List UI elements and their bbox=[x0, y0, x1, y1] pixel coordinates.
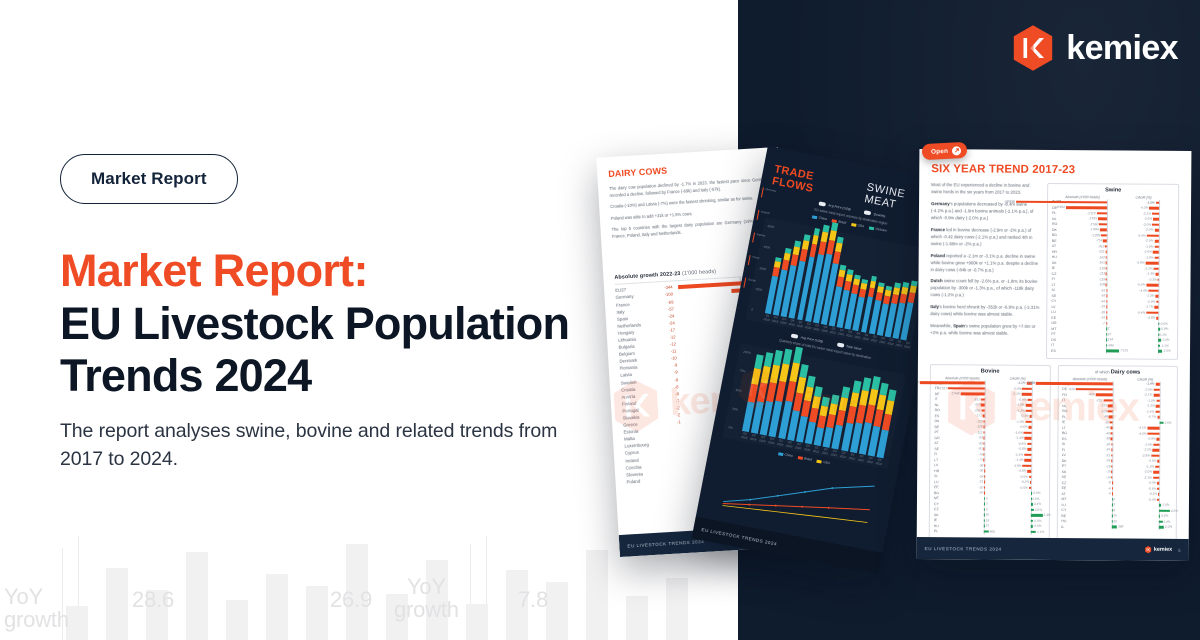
absolute-cell: -714 bbox=[1063, 239, 1124, 243]
value-label: -6 bbox=[1108, 486, 1111, 490]
value-label: -916 bbox=[1068, 387, 1074, 391]
value-label: -1.7% bbox=[1145, 305, 1153, 309]
absolute-cell: -307 bbox=[946, 403, 1001, 407]
axis-tick-label: Q4 2022 bbox=[875, 457, 883, 466]
bar bbox=[1157, 488, 1158, 491]
value-label: -84 bbox=[1104, 415, 1109, 419]
footer-brand-name: kemiex bbox=[1154, 547, 1172, 553]
country-code: PL bbox=[1062, 415, 1073, 419]
axis-tick-label: Q4 2019 bbox=[788, 318, 796, 327]
bar bbox=[1153, 477, 1159, 480]
country-code: DS bbox=[1051, 338, 1062, 342]
value-label: 37 bbox=[1108, 332, 1112, 336]
cagr-cell: -4.4% bbox=[1123, 289, 1173, 293]
value-label: -109 bbox=[1101, 409, 1107, 413]
value-label: -344 bbox=[659, 285, 674, 291]
absolute-cell: -53 bbox=[1063, 294, 1124, 298]
absolute-cell: -2'119 bbox=[1063, 212, 1124, 216]
absolute-cell: -118 bbox=[945, 425, 1000, 429]
value-label: -2'119 bbox=[1087, 211, 1096, 215]
absolute-cell: -296 bbox=[946, 409, 1001, 413]
country-code: IT bbox=[935, 397, 946, 401]
bar bbox=[1106, 251, 1107, 254]
country-code: LV bbox=[934, 463, 945, 467]
country-code: FI bbox=[1052, 277, 1063, 281]
absolute-cell: -352 bbox=[946, 398, 1001, 402]
absolute-cell: -8 bbox=[1073, 481, 1128, 485]
bar bbox=[1155, 466, 1159, 469]
trend-paragraph-3: Dutch swine count fell by -2.6% p.a. or … bbox=[930, 279, 1039, 301]
bar bbox=[1151, 455, 1159, 458]
value-label: -4.4% bbox=[1139, 289, 1147, 293]
open-badge[interactable]: Open bbox=[922, 142, 968, 160]
absolute-cell: -81 bbox=[945, 447, 1000, 451]
value-label: -2.1% bbox=[1012, 392, 1020, 396]
country-code: ES bbox=[1051, 349, 1062, 353]
axis-tick-label: Q3 2019 bbox=[780, 316, 788, 325]
bar bbox=[1158, 521, 1162, 524]
bar bbox=[1111, 460, 1112, 463]
absolute-cell: 8 bbox=[1072, 509, 1127, 513]
value-label: -1.9% bbox=[1144, 443, 1152, 447]
value-label: -71 bbox=[978, 458, 983, 462]
cagr-cell: -0.9% bbox=[1123, 300, 1173, 304]
value-label: -8 bbox=[664, 377, 679, 383]
value-label: -161 bbox=[1099, 261, 1105, 265]
value-label: -24 bbox=[661, 320, 676, 326]
axis-tick-label: Q4 2020 bbox=[821, 324, 829, 333]
absolute-cell: 21 bbox=[945, 524, 1000, 528]
value-label: -0.8% bbox=[1018, 469, 1026, 473]
value-label: -9 bbox=[664, 363, 679, 369]
trend-paragraph-4: Italy's bovine herd shrunk by -352k or -… bbox=[930, 304, 1039, 319]
value-label: -2.2% bbox=[1143, 448, 1151, 452]
value-label: -2.0% bbox=[1144, 470, 1152, 474]
bar bbox=[1027, 470, 1031, 473]
absolute-cell: -221 bbox=[1063, 250, 1124, 254]
value-label: -45 bbox=[1105, 426, 1110, 430]
bar bbox=[1105, 245, 1107, 248]
country-code: RO bbox=[1052, 222, 1063, 226]
cagr-cell: -1.3% bbox=[1000, 420, 1045, 424]
absolute-cell: 16 bbox=[945, 513, 1000, 517]
country-code: SE bbox=[1052, 294, 1063, 298]
brand-name: kemiex bbox=[1066, 29, 1178, 68]
value-label: -9 bbox=[664, 370, 679, 376]
bar bbox=[1158, 493, 1159, 496]
trend-intro: Most of the EU experienced a decline in … bbox=[931, 182, 1040, 197]
value-label: -12 bbox=[662, 341, 677, 347]
bar bbox=[1112, 526, 1117, 529]
table-caption: of which Dairy cows bbox=[1062, 369, 1173, 376]
axis-tick-label: Q1 2022 bbox=[862, 332, 870, 341]
value-label: -1.3% bbox=[1016, 403, 1024, 407]
bar-segment bbox=[871, 376, 880, 390]
value-label: -120 bbox=[976, 419, 982, 423]
bar bbox=[1106, 344, 1107, 347]
country-code: HR bbox=[934, 469, 945, 473]
value-label: -0.9% bbox=[1018, 398, 1026, 402]
cagr-cell: 0.6% bbox=[1000, 508, 1045, 512]
trend-paragraph-1: France led in bovine decrease (-2.9m or … bbox=[931, 227, 1040, 249]
value-label: -81 bbox=[978, 447, 983, 451]
value-label: -112 bbox=[976, 430, 982, 434]
value-label: -10 bbox=[663, 356, 678, 362]
value-label: -4.0% bbox=[1138, 432, 1146, 436]
value-label: -3.1% bbox=[1143, 212, 1151, 216]
country-code: LT bbox=[934, 458, 945, 462]
value-label: -38 bbox=[1105, 437, 1110, 441]
bar bbox=[1156, 400, 1159, 403]
cagr-cell: -2.0% bbox=[1128, 388, 1173, 392]
bar bbox=[1111, 438, 1113, 441]
absolute-cell: -171 bbox=[946, 414, 1001, 418]
bar bbox=[1159, 422, 1163, 425]
value-label: -120 bbox=[1099, 266, 1105, 270]
axis-tick-label: Q1 2023 bbox=[895, 339, 903, 348]
country-label: Poland bbox=[626, 477, 670, 485]
column-header: CAGR (%) bbox=[1118, 377, 1173, 381]
dairy-cows-table: of which Dairy cowsAbsolute (x'000 heads… bbox=[1056, 365, 1178, 541]
bar bbox=[1111, 432, 1113, 435]
bar bbox=[1154, 229, 1158, 232]
absolute-cell: -162 bbox=[1063, 256, 1124, 260]
bar-segment bbox=[800, 249, 808, 262]
cagr-cell: 0.5% bbox=[1000, 519, 1045, 523]
value-label bbox=[670, 478, 685, 479]
table-row: PL9601.1% bbox=[934, 529, 1045, 535]
table-column-headers: Absolute (x'000 heads)CAGR (%) bbox=[935, 376, 1046, 381]
country-code: IE bbox=[1062, 420, 1073, 424]
value-label: -0.7% bbox=[1148, 415, 1156, 419]
trend-footer-text: EU LIVESTOCK TRENDS 2024 bbox=[925, 546, 1002, 552]
cagr-cell: -1.4% bbox=[1000, 459, 1045, 463]
value-label: -0.8% bbox=[1147, 437, 1155, 441]
bar bbox=[1146, 312, 1158, 315]
value-label: -100 bbox=[659, 292, 674, 298]
value-label: -296 bbox=[974, 408, 980, 412]
column-header: Absolute (x'000 heads) bbox=[1052, 195, 1113, 199]
value-label: -8 bbox=[665, 391, 680, 397]
absolute-cell: -14 bbox=[1062, 316, 1123, 320]
cagr-cell: 1.5% bbox=[1128, 421, 1173, 425]
cagr-cell: -0.8% bbox=[1123, 317, 1173, 321]
bar bbox=[1158, 504, 1161, 507]
value-label: -352 bbox=[973, 397, 979, 401]
bar-segment bbox=[764, 352, 773, 367]
axis-tick-label: Q2 2020 bbox=[785, 440, 793, 449]
cagr-cell: 0.6% bbox=[1127, 515, 1172, 519]
table-column-headers: Absolute (x'000 heads)CAGR (%) bbox=[1052, 195, 1174, 200]
bar bbox=[1031, 531, 1036, 534]
value-label: -12 bbox=[662, 334, 677, 340]
bar bbox=[1024, 454, 1031, 457]
bar bbox=[1158, 339, 1161, 342]
absolute-cell: -20 bbox=[945, 491, 1000, 495]
bar bbox=[1146, 284, 1158, 287]
cagr-cell: -2.0% bbox=[1127, 471, 1172, 475]
country-code: MT bbox=[1051, 327, 1062, 331]
bar bbox=[1036, 382, 1113, 385]
value-label: -1.8% bbox=[1145, 256, 1153, 260]
value-label: -2.1% bbox=[1144, 393, 1152, 397]
cagr-cell: -0.9% bbox=[1000, 442, 1045, 446]
bar-segment bbox=[827, 414, 836, 428]
absolute-cell: -36 bbox=[945, 469, 1000, 473]
sidebar-item-exports[interactable]: Exports bbox=[757, 210, 773, 222]
absolute-cell: -8'394 bbox=[1063, 206, 1124, 210]
bar bbox=[1155, 306, 1159, 309]
value-label: -2.0% bbox=[1013, 387, 1021, 391]
bar-segment bbox=[839, 397, 848, 411]
cagr-cell: 0.5% bbox=[999, 525, 1044, 529]
absolute-cell: -38 bbox=[1073, 437, 1128, 441]
value-label: -20 bbox=[979, 491, 984, 495]
value-label: -19 bbox=[1106, 464, 1111, 468]
bar-segment bbox=[783, 349, 793, 365]
cagr-cell: -2.6% bbox=[1124, 218, 1174, 222]
bar bbox=[1158, 345, 1160, 348]
cagr-cell: 0.4% bbox=[1000, 503, 1045, 507]
kemiex-hex-k-icon bbox=[1145, 546, 1152, 554]
country-code: LV bbox=[1062, 453, 1073, 457]
value-label: -108 bbox=[1099, 283, 1105, 287]
country-code: BE bbox=[1052, 239, 1063, 243]
cagr-cell: -2.2% bbox=[1127, 449, 1172, 453]
bar bbox=[984, 453, 985, 456]
country-code: EE bbox=[1062, 486, 1073, 490]
value-label: 1.1% bbox=[1037, 530, 1044, 534]
country-code: LU bbox=[1051, 310, 1062, 314]
value-label: 2.4% bbox=[1043, 513, 1050, 517]
country-code: ES bbox=[1062, 437, 1073, 441]
country-code: IT bbox=[1062, 398, 1073, 402]
value-label: 960 bbox=[990, 530, 995, 534]
bar bbox=[1025, 437, 1032, 440]
cagr-cell: -0.3% bbox=[1124, 278, 1174, 282]
absolute-cell: -120 bbox=[1063, 267, 1124, 271]
bar bbox=[1028, 448, 1032, 451]
country-code: PL bbox=[934, 529, 945, 533]
absolute-cell: -82 bbox=[945, 442, 1000, 446]
bar bbox=[1155, 411, 1159, 414]
value-label: 2 bbox=[1108, 327, 1110, 331]
value-label bbox=[668, 429, 683, 430]
axis-tick-label: Q2 2023 bbox=[904, 340, 912, 349]
bar bbox=[1158, 279, 1159, 282]
value-label: -0.8% bbox=[1018, 447, 1026, 451]
brand-logo: kemiex bbox=[1011, 24, 1178, 72]
axis-tick-label: Q4 2021 bbox=[839, 450, 847, 459]
value-label: -0.2% bbox=[1021, 480, 1029, 484]
bar-segment bbox=[754, 354, 763, 369]
bar bbox=[1153, 218, 1159, 221]
absolute-cell: -1'484 bbox=[1063, 228, 1124, 232]
country-code: HR bbox=[1052, 250, 1063, 254]
sidebar-item-imports[interactable]: Imports bbox=[752, 233, 768, 245]
absolute-cell: -31 bbox=[1073, 454, 1128, 458]
absolute-cell: -20 bbox=[945, 486, 1000, 490]
axis-tick-label: Q4 2022 bbox=[887, 337, 895, 346]
bar bbox=[1152, 213, 1159, 216]
value-label: -8 bbox=[665, 384, 680, 390]
axis-tick-label: Q1 2020 bbox=[776, 438, 784, 447]
bar-segment bbox=[793, 347, 803, 364]
cagr-cell: 0.9% bbox=[1123, 328, 1173, 332]
cagr-cell: -2.6% bbox=[1124, 251, 1174, 255]
cagr-cell: -1.8% bbox=[1000, 464, 1045, 468]
cagr-cell: -0.6% bbox=[1000, 426, 1045, 430]
bar bbox=[1022, 393, 1032, 396]
value-label: -7 bbox=[666, 398, 681, 404]
cagr-cell: -1.7% bbox=[1123, 306, 1173, 310]
country-code: SE bbox=[1062, 475, 1073, 479]
value-label: -171 bbox=[976, 414, 982, 418]
cagr-cell: 1.1% bbox=[1123, 344, 1173, 348]
value-label bbox=[668, 436, 683, 437]
bar bbox=[981, 404, 985, 407]
trend-copy-column: Most of the EU experienced a decline in … bbox=[930, 182, 1040, 358]
absolute-cell: -21 bbox=[945, 480, 1000, 484]
value-label: -24 bbox=[979, 474, 984, 478]
bar bbox=[1148, 433, 1159, 436]
sidebar-item-prices[interactable]: Prices bbox=[748, 255, 764, 267]
bar bbox=[1027, 443, 1031, 446]
value-label: 21 bbox=[986, 524, 990, 528]
absolute-cell: -1'815 bbox=[1063, 217, 1124, 221]
cagr-cell: -5.4% bbox=[1124, 284, 1174, 288]
absolute-cell: -61 bbox=[1063, 289, 1124, 293]
value-label: -18'538 bbox=[1004, 199, 1015, 203]
bar bbox=[1157, 499, 1158, 502]
value-label: -8'394 bbox=[1056, 205, 1065, 209]
country-code: CY bbox=[1061, 508, 1072, 512]
country-code: BG bbox=[934, 491, 945, 495]
sidebar-item-overview[interactable]: Overview bbox=[761, 187, 777, 199]
value-label: 1.5% bbox=[1164, 421, 1171, 425]
absolute-cell: 2 bbox=[1062, 327, 1123, 331]
bar-segment bbox=[849, 392, 858, 407]
country-code: FR bbox=[1062, 393, 1073, 397]
value-label: -1'948 bbox=[951, 392, 960, 396]
country-code: EE bbox=[1051, 316, 1062, 320]
value-label: -0.4% bbox=[1020, 414, 1028, 418]
bar bbox=[983, 426, 985, 429]
bar bbox=[1106, 267, 1107, 270]
bar-segment bbox=[862, 377, 871, 391]
bar bbox=[960, 393, 985, 396]
value-label bbox=[670, 464, 685, 465]
value-label: -1'208 bbox=[1091, 233, 1100, 237]
bar bbox=[1156, 301, 1158, 304]
country-code: RO bbox=[935, 408, 946, 412]
cagr-cell: -0.2% bbox=[1127, 493, 1172, 497]
bar-segment bbox=[836, 410, 846, 426]
axis-tick-label: Q3 2021 bbox=[846, 329, 854, 338]
value-label: -1.3% bbox=[1146, 465, 1154, 469]
value-label: -1.5% bbox=[1015, 453, 1023, 457]
bar bbox=[1031, 503, 1033, 506]
value-label: -2.2% bbox=[1144, 267, 1152, 271]
cagr-cell: -0.0% bbox=[1000, 492, 1045, 496]
bar bbox=[1154, 389, 1160, 392]
axis-tick-label: Q2 2022 bbox=[857, 454, 865, 463]
bar bbox=[1156, 201, 1159, 204]
bar bbox=[1111, 449, 1112, 452]
absolute-cell: -24 bbox=[1073, 459, 1128, 463]
value-label: 0.9% bbox=[1161, 327, 1168, 331]
document-page-six-year-trend[interactable]: SIX YEAR TREND 2017-23 Most of the EU ex… bbox=[917, 149, 1192, 561]
absolute-cell: -113 bbox=[1063, 272, 1124, 276]
cagr-cell: -0.5% bbox=[1127, 460, 1172, 464]
bar bbox=[1031, 520, 1033, 523]
kemiex-hex-k-icon bbox=[1011, 24, 1055, 72]
cagr-cell: -4.0% bbox=[1128, 432, 1173, 436]
value-label: -1 bbox=[667, 419, 682, 425]
value-label: -36 bbox=[979, 469, 984, 473]
absolute-cell: -93 bbox=[945, 436, 1000, 440]
country-code: AT bbox=[1052, 244, 1063, 248]
value-label: 0.5% bbox=[1034, 524, 1041, 528]
country-code: CZ bbox=[934, 507, 945, 511]
cagr-cell: -0.7% bbox=[1128, 416, 1173, 420]
bar bbox=[1097, 212, 1107, 215]
country-code: MT bbox=[934, 496, 945, 500]
value-label: 2.0% bbox=[1163, 349, 1170, 353]
value-label: -7 bbox=[1102, 321, 1105, 325]
bar bbox=[1029, 487, 1031, 490]
value-label: -28 bbox=[1100, 310, 1105, 314]
value-label: 0.1% bbox=[1159, 333, 1166, 337]
value-label: -0.4% bbox=[1148, 481, 1156, 485]
cagr-cell: -2.1% bbox=[1128, 394, 1173, 398]
axis-tick-label: Q2 2021 bbox=[821, 447, 829, 456]
cagr-cell: -1.2% bbox=[1000, 409, 1045, 413]
axis-tick-label: Q3 2022 bbox=[879, 336, 887, 345]
country-code: MT bbox=[1061, 497, 1072, 501]
column-header: CAGR (%) bbox=[990, 376, 1045, 380]
absolute-cell: -110 bbox=[1063, 278, 1124, 282]
bar bbox=[1111, 476, 1112, 479]
cagr-cell: 0.1% bbox=[1123, 333, 1173, 337]
table-row: ES7'5702.0% bbox=[1051, 348, 1173, 354]
country-code: PT bbox=[934, 430, 945, 434]
legend-usa-top: USA bbox=[851, 222, 865, 228]
bar bbox=[1031, 509, 1034, 512]
bar bbox=[1111, 465, 1112, 468]
country-code: HU bbox=[1061, 519, 1072, 523]
absolute-cell: 7'570 bbox=[1062, 349, 1123, 353]
bar bbox=[1156, 317, 1158, 320]
value-label: -14 bbox=[1106, 475, 1111, 479]
cagr-cell: -0.5% bbox=[1000, 475, 1045, 479]
absolute-cell: -24 bbox=[945, 475, 1000, 479]
value-label: 0 bbox=[1113, 497, 1115, 501]
axis-tick-label: Q2 2020 bbox=[805, 321, 813, 330]
value-label: -11 bbox=[663, 348, 678, 354]
absolute-cell: 368 bbox=[1072, 525, 1127, 529]
value-label: -76 bbox=[978, 452, 983, 456]
cagr-cell: -5.8% bbox=[1124, 262, 1174, 266]
country-code: IE bbox=[1052, 266, 1063, 270]
value-label: -33 bbox=[1100, 305, 1105, 309]
absolute-cell: -34 bbox=[1073, 443, 1128, 447]
country-code: SI bbox=[1062, 442, 1073, 446]
value-label: 30 bbox=[1113, 519, 1117, 523]
country-code: DK bbox=[1052, 228, 1063, 232]
bar-segment bbox=[833, 251, 841, 264]
bar bbox=[1111, 427, 1113, 430]
